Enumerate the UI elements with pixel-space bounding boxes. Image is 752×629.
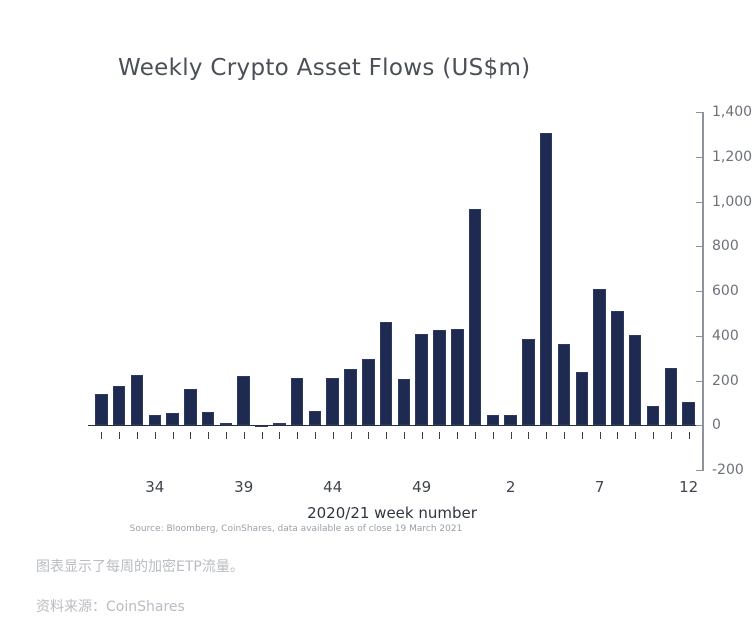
x-axis-tick bbox=[351, 432, 352, 439]
chart-screenshot: Weekly Crypto Asset Flows (US$m) 1,4001,… bbox=[0, 0, 752, 629]
y-axis-tick bbox=[696, 246, 704, 247]
x-axis-label: 12 bbox=[679, 478, 698, 496]
x-axis-tick bbox=[368, 432, 369, 439]
x-axis-tick bbox=[101, 432, 102, 439]
x-axis-tick bbox=[315, 432, 316, 439]
bar bbox=[522, 339, 534, 425]
x-axis-tick bbox=[279, 432, 280, 439]
page-title: Weekly Crypto Asset Flows (US$m) bbox=[118, 55, 530, 81]
x-axis-label: 2 bbox=[506, 478, 516, 496]
bar bbox=[576, 372, 588, 426]
x-axis-tick bbox=[422, 432, 423, 439]
bar bbox=[113, 386, 125, 425]
bar bbox=[166, 413, 178, 425]
x-axis-label: 49 bbox=[412, 478, 431, 496]
x-axis-tick bbox=[546, 432, 547, 439]
bar bbox=[362, 359, 374, 425]
y-axis-tick bbox=[696, 470, 704, 471]
x-axis-tick bbox=[528, 432, 529, 439]
x-axis-tick bbox=[386, 432, 387, 439]
bar bbox=[326, 378, 338, 425]
bar bbox=[380, 322, 392, 425]
x-axis-tick bbox=[689, 432, 690, 439]
bar bbox=[131, 375, 143, 425]
x-axis-tick bbox=[439, 432, 440, 439]
bar bbox=[398, 379, 410, 425]
bar bbox=[451, 329, 463, 425]
x-axis-tick bbox=[653, 432, 654, 439]
x-axis-tick bbox=[244, 432, 245, 439]
x-axis-title: 2020/21 week number bbox=[307, 504, 477, 522]
x-axis-tick bbox=[226, 432, 227, 439]
bar bbox=[415, 334, 427, 426]
y-axis-tick bbox=[696, 336, 704, 337]
bar bbox=[611, 311, 623, 425]
bar bbox=[237, 376, 249, 425]
x-axis-tick bbox=[511, 432, 512, 439]
bar bbox=[665, 368, 677, 425]
x-axis-tick bbox=[297, 432, 298, 439]
y-axis-label: 0 bbox=[712, 417, 721, 433]
bar bbox=[682, 402, 694, 425]
y-axis-label: 800 bbox=[712, 238, 739, 254]
y-axis-tick bbox=[696, 425, 704, 426]
y-axis-label: 600 bbox=[712, 283, 739, 299]
y-axis-tick bbox=[696, 202, 704, 203]
x-axis-tick bbox=[137, 432, 138, 439]
bar bbox=[469, 209, 481, 425]
y-axis-label: 1,400 bbox=[712, 104, 752, 120]
bar bbox=[309, 411, 321, 426]
x-axis-tick bbox=[493, 432, 494, 439]
bar bbox=[540, 133, 552, 425]
bar bbox=[95, 394, 107, 425]
bar bbox=[433, 330, 445, 425]
zero-baseline bbox=[88, 425, 702, 426]
x-axis-tick bbox=[600, 432, 601, 439]
bar bbox=[558, 344, 570, 426]
y-axis-label: 1,000 bbox=[712, 194, 752, 210]
x-axis-tick bbox=[671, 432, 672, 439]
y-axis-tick bbox=[696, 157, 704, 158]
caption-line-2: 资料来源：CoinShares bbox=[36, 596, 185, 616]
x-axis-tick bbox=[582, 432, 583, 439]
x-axis-tick bbox=[173, 432, 174, 439]
x-axis-tick bbox=[617, 432, 618, 439]
bar bbox=[149, 415, 161, 425]
bar bbox=[344, 369, 356, 425]
bar bbox=[593, 289, 605, 425]
x-axis-tick bbox=[457, 432, 458, 439]
x-axis-tick bbox=[404, 432, 405, 439]
plot-area bbox=[88, 112, 702, 470]
x-axis-label: 44 bbox=[323, 478, 342, 496]
bar bbox=[504, 415, 516, 425]
y-axis-tick bbox=[696, 291, 704, 292]
x-axis-tick bbox=[333, 432, 334, 439]
x-axis-tick bbox=[475, 432, 476, 439]
bar bbox=[202, 412, 214, 425]
x-axis-tick bbox=[155, 432, 156, 439]
y-axis-label: 1,200 bbox=[712, 149, 752, 165]
x-axis-tick bbox=[208, 432, 209, 439]
y-axis-label: 400 bbox=[712, 328, 739, 344]
x-axis-label: 7 bbox=[595, 478, 605, 496]
bar bbox=[487, 415, 499, 425]
bar-series bbox=[88, 112, 702, 470]
bar bbox=[184, 389, 196, 425]
y-axis-label: 200 bbox=[712, 373, 739, 389]
x-axis-tick bbox=[262, 432, 263, 439]
y-axis-tick bbox=[696, 112, 704, 113]
x-axis-tick bbox=[564, 432, 565, 439]
x-axis-label: 39 bbox=[234, 478, 253, 496]
y-axis-tick bbox=[696, 381, 704, 382]
x-axis-tick bbox=[119, 432, 120, 439]
source-note: Source: Bloomberg, CoinShares, data avai… bbox=[130, 524, 463, 534]
bar bbox=[291, 378, 303, 425]
x-axis-tick bbox=[635, 432, 636, 439]
caption-line-1: 图表显示了每周的加密ETP流量。 bbox=[36, 556, 244, 576]
bar bbox=[629, 335, 641, 426]
y-axis-label: -200 bbox=[712, 462, 744, 478]
x-axis-label: 34 bbox=[145, 478, 164, 496]
x-axis-tick bbox=[190, 432, 191, 439]
bar bbox=[647, 406, 659, 425]
